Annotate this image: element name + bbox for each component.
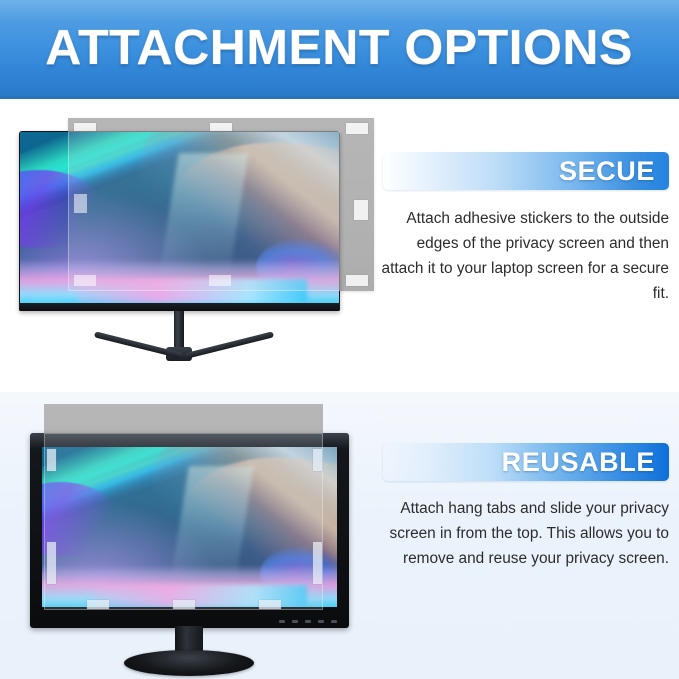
osd-button-icon[interactable]: [292, 620, 298, 623]
wallpaper-image: [42, 447, 337, 607]
badge-reusable-label: REUSABLE: [502, 449, 655, 476]
illustration-reusable: [0, 392, 390, 679]
osd-button-row[interactable]: [279, 620, 337, 623]
monitor-chin: [19, 303, 340, 311]
illustration-secure: [0, 99, 390, 392]
monitor-stand-leg-right: [185, 331, 274, 359]
adhesive-sticker: [346, 275, 368, 286]
monitor-stand-base: [124, 650, 254, 676]
badge-reusable: REUSABLE: [383, 443, 669, 481]
monitor-screen: [42, 447, 337, 607]
adhesive-sticker: [346, 123, 368, 134]
page-title: ATTACHMENT OPTIONS: [46, 24, 634, 73]
description-reusable: Attach hang tabs and slide your privacy …: [379, 496, 669, 571]
osd-button-icon[interactable]: [318, 620, 324, 623]
wallpaper-image: [20, 132, 339, 303]
adhesive-sticker: [354, 200, 368, 220]
power-button-icon[interactable]: [331, 620, 337, 623]
description-secure: Attach adhesive stickers to the outside …: [379, 206, 669, 306]
badge-secure: SECUE: [383, 152, 669, 190]
monitor-stand-leg-left: [94, 331, 183, 359]
header-banner: ATTACHMENT OPTIONS: [0, 0, 679, 99]
infographic-page: ATTACHMENT OPTIONS: [0, 0, 679, 679]
monitor-panel: [19, 131, 340, 311]
osd-button-icon[interactable]: [305, 620, 311, 623]
monitor-panel: [30, 433, 349, 628]
monitor-screen: [20, 132, 339, 303]
badge-secure-label: SECUE: [559, 158, 655, 185]
osd-button-icon[interactable]: [279, 620, 285, 623]
